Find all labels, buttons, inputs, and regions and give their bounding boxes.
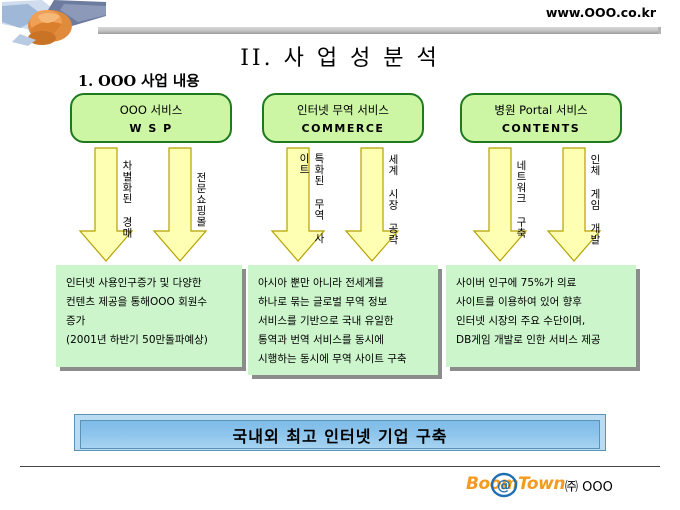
description-line: 사이트를 이용하여 있어 향후 [456,293,628,312]
description-box: 사이버 인구에 75%가 의료 사이트를 이용하여 있어 향후 인터넷 시장의 … [446,265,636,367]
arrow-label: 네트워크 구축 [472,153,528,245]
arrow-row: 특화된 무역 사이트 세계 시장 공략 [248,147,438,263]
description-line: 사이버 인구에 75%가 의료 [456,274,628,293]
arrow-row: 차별화된 경매 전문쇼핑몰 [56,147,246,263]
footer-divider [20,466,660,467]
description-box: 아시아 뿐만 아니라 전세계를 하나로 묶는 글로벌 무역 정보 서비스를 기반… [248,265,438,375]
slide-header: www.OOO.co.kr [0,0,680,40]
banner-face: 국내외 최고 인터넷 기업 구축 [80,420,600,449]
svg-text:@: @ [497,478,511,494]
arrow-label: 인체 게임 개발 [546,153,602,245]
down-arrow-icon: 전문쇼핑몰 [152,147,208,263]
description-box: 인터넷 사용인구증가 및 다양한 컨텐츠 제공을 통해OOO 회원수 증가 (2… [56,265,242,367]
service-title: 인터넷 무역 서비스 [297,102,389,118]
description-line: 인터넷 사용인구증가 및 다양한 [66,274,234,293]
header-divider [98,27,661,34]
company-name: ㈜ OOO [565,476,613,495]
arrow-label: 전문쇼핑몰 [152,153,208,245]
page-title: II. 사 업 성 분 석 [0,40,680,72]
description-line: 시행하는 동시에 무역 사이트 구축 [258,350,430,369]
arrow-row: 네트워크 구축 인체 게임 개발 [446,147,636,263]
description-line: 아시아 뿐만 아니라 전세계를 [258,274,430,293]
service-column-contents: 병원 Portal 서비스 CONTENTS 네트워크 구축 인체 게임 개발 … [446,93,636,367]
summary-banner: 국내외 최고 인터넷 기업 구축 [74,414,606,451]
service-title: 병원 Portal 서비스 [494,102,587,118]
service-header-box[interactable]: 인터넷 무역 서비스 COMMERCE [262,93,424,143]
description-line: 컨텐츠 제공을 통해OOO 회원수 [66,293,234,312]
down-arrow-icon: 인체 게임 개발 [546,147,602,263]
service-column-commerce: 인터넷 무역 서비스 COMMERCE 특화된 무역 사이트 세계 시장 공략 … [248,93,438,375]
service-title: OOO 서비스 [120,102,183,118]
down-arrow-icon: 특화된 무역 사이트 [270,147,326,263]
down-arrow-icon: 네트워크 구축 [472,147,528,263]
description-line: 인터넷 시장의 주요 수단이며, [456,312,628,331]
arrow-label: 차별화된 경매 [78,153,134,245]
down-arrow-icon: 세계 시장 공략 [344,147,400,263]
down-arrow-icon: 차별화된 경매 [78,147,134,263]
description-line: 하나로 묶는 글로벌 무역 정보 [258,293,430,312]
arrow-label: 세계 시장 공략 [344,153,400,245]
arrow-label: 특화된 무역 사이트 [270,153,326,245]
banner-text: 국내외 최고 인터넷 기업 구축 [233,423,448,447]
service-header-box[interactable]: 병원 Portal 서비스 CONTENTS [460,93,622,143]
service-header-box[interactable]: OOO 서비스 W S P [70,93,232,143]
site-url: www.OOO.co.kr [546,5,656,20]
description-line: 서비스를 기반으로 국내 유일한 [258,312,430,331]
service-column-wsp: OOO 서비스 W S P 차별화된 경매 전문쇼핑몰 인터넷 사용인구증가 및… [56,93,246,367]
service-code: CONTENTS [502,122,580,135]
at-circle-icon: @ [490,472,518,498]
section-subtitle: 1. OOO 사업 내용 [78,70,200,91]
description-line: 통역과 번역 서비스를 동시에 [258,331,430,350]
description-line: DB게임 개발로 인한 서비스 제공 [456,331,628,350]
service-code: COMMERCE [302,122,385,135]
service-code: W S P [129,122,172,135]
description-line: (2001년 하반기 50만돌파예상) [66,331,234,350]
description-line: 증가 [66,312,234,331]
